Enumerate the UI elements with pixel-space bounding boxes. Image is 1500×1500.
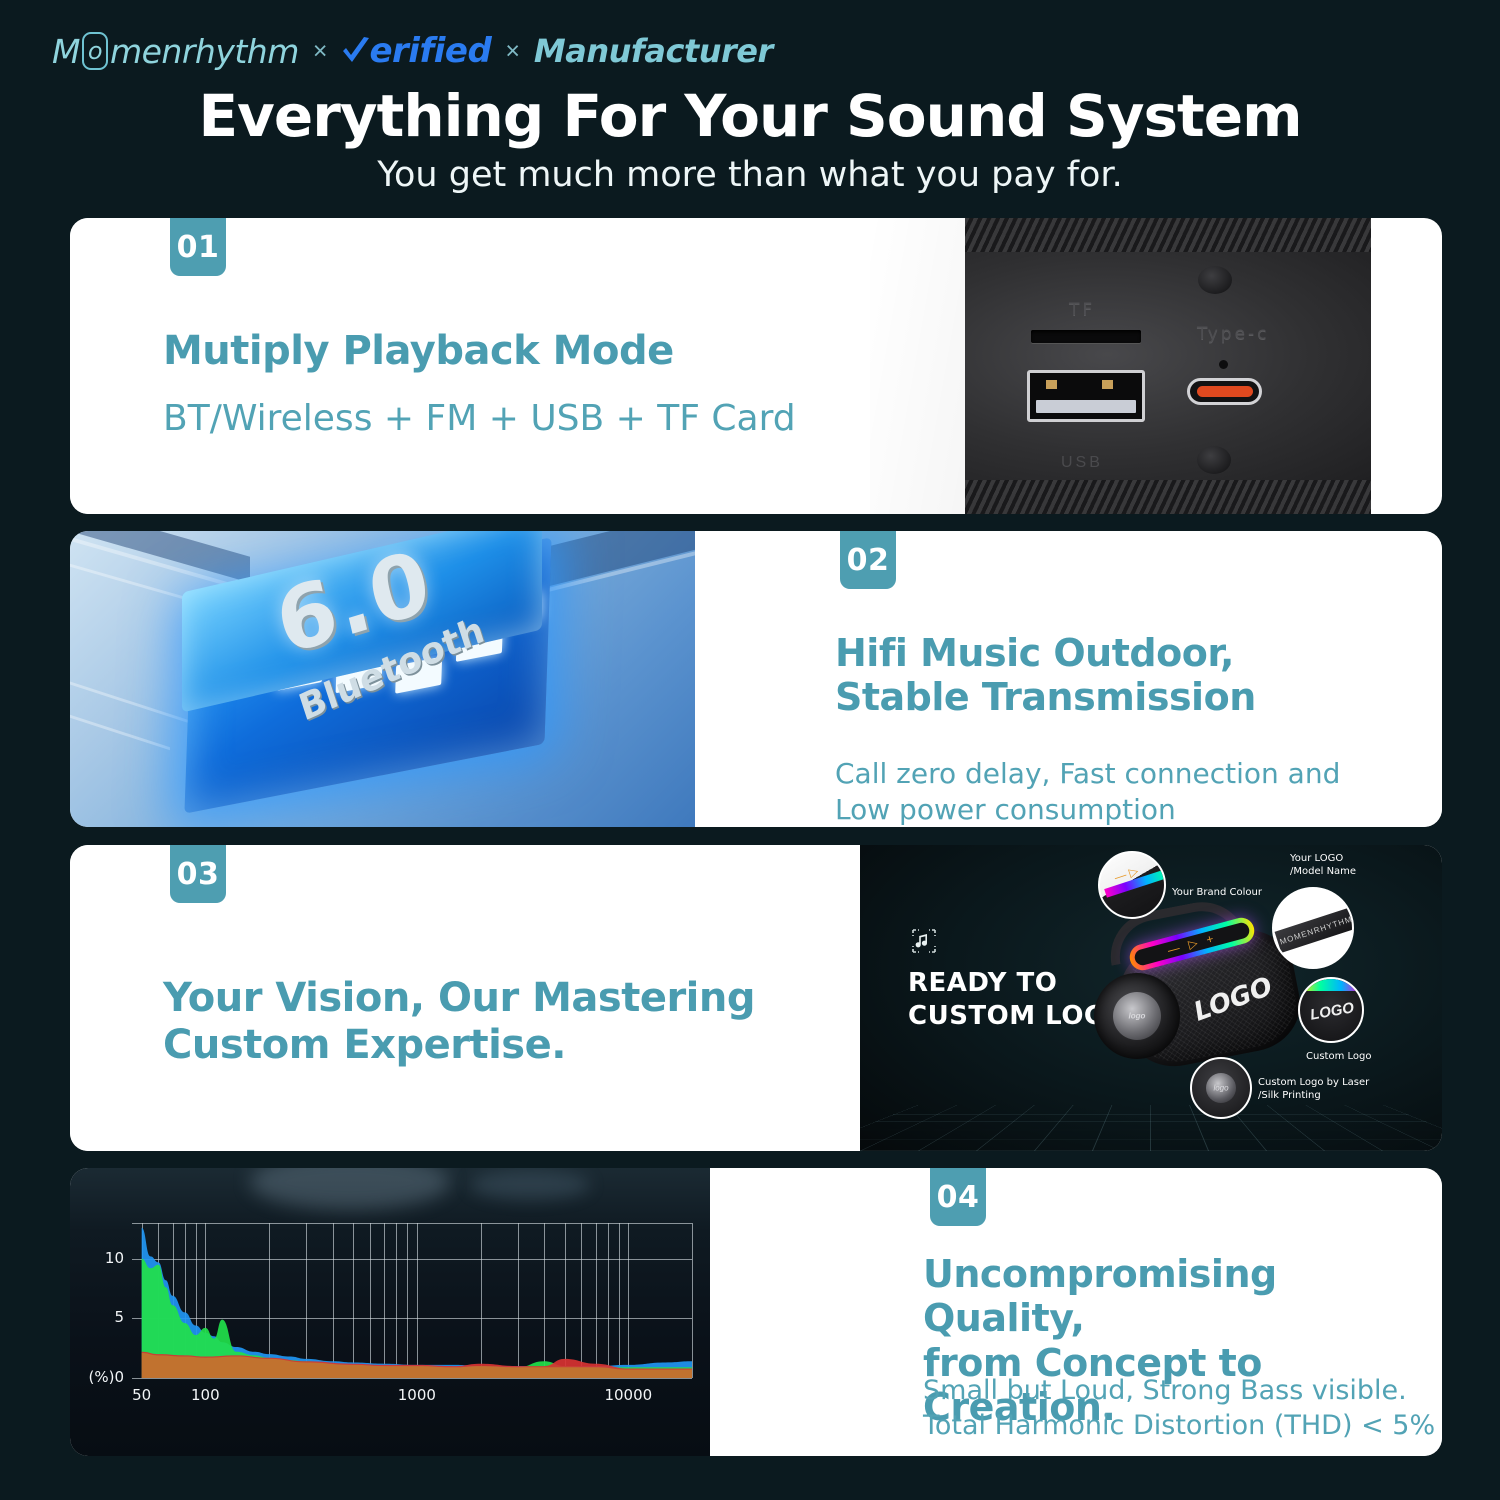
card-03-image-pane: READY TO CUSTOM LOGO? LOGO — ▷ + logo: [860, 845, 1442, 1151]
callout-custom-logo: LOGO: [1298, 977, 1364, 1043]
feature-card-02: 6.0 Bluetooth 02 Hifi Music Outdoor, Sta…: [70, 531, 1442, 827]
music-note-icon: [910, 927, 938, 955]
card-04-number-badge: 04: [930, 1168, 986, 1226]
thd-y-tick-5: 5: [98, 1308, 124, 1326]
custom-logo-image: READY TO CUSTOM LOGO? LOGO — ▷ + logo: [860, 845, 1442, 1151]
brand-verified: erified: [341, 31, 491, 71]
card-01-number-badge: 01: [170, 218, 226, 276]
thd-y-tick-10: 10: [98, 1249, 124, 1267]
brand-verified-label: erified: [369, 31, 491, 71]
thd-y-tick-0: (%)0: [78, 1368, 124, 1386]
screw-bottom-icon: [1197, 446, 1231, 474]
callout-laser-logo: logo: [1190, 1057, 1252, 1119]
card-04-subtitle-line2: Total Harmonic Distortion (THD) < 5%: [923, 1408, 1435, 1443]
brand-momen-prefix: M: [52, 32, 80, 71]
callout-brand-colour: — ▷: [1098, 851, 1166, 919]
page-subtitle: You get much more than what you pay for.: [0, 155, 1500, 195]
page-title: Everything For Your Sound System: [0, 82, 1500, 150]
brand-separator-2: ×: [505, 37, 520, 66]
screw-top-icon: [1198, 266, 1232, 294]
callout-label-brand-colour: Your Brand Colour: [1172, 887, 1262, 900]
card-03-title: Your Vision, Our Mastering Custom Expert…: [163, 975, 755, 1069]
callout-label-custom-logo: Custom Logo: [1306, 1051, 1371, 1064]
speaker-ports-photo: TF Type-c US: [965, 218, 1371, 514]
usb-port: [1027, 370, 1145, 422]
card-02-title: Hifi Music Outdoor, Stable Transmission: [835, 631, 1256, 720]
brand-momenrhythm: M o menrhythm: [52, 32, 299, 71]
card-02-subtitle-line1: Call zero delay, Fast connection and: [835, 756, 1340, 792]
card-02-image-pane: 6.0 Bluetooth: [70, 531, 770, 827]
thd-x-tick-50: 50: [112, 1386, 172, 1404]
card-01-subtitle: BT/Wireless + FM + USB + TF Card: [163, 396, 796, 443]
card-01-image-pane: TF Type-c US: [965, 218, 1442, 514]
callout-your-logo: MOMENRHYTHM: [1272, 887, 1354, 969]
card-04-title-line1: Uncompromising Quality,: [923, 1252, 1442, 1341]
feature-card-03: 03 Your Vision, Our Mastering Custom Exp…: [70, 845, 1442, 1151]
thd-chart: (%)0510 50100100010000: [70, 1168, 710, 1456]
thd-x-tick-10000: 10000: [598, 1386, 658, 1404]
thd-plot-area: [132, 1223, 692, 1378]
card-03-number-badge: 03: [170, 845, 226, 903]
callout-label-laser-logo: Custom Logo by Laser /Silk Printing: [1258, 1077, 1369, 1102]
speaker-driver-left: logo: [1094, 973, 1180, 1059]
port-label-usb: USB: [1061, 454, 1103, 472]
thd-series-svg: [132, 1223, 692, 1378]
bluetooth-chip-image: 6.0 Bluetooth: [70, 531, 695, 827]
card-02-subtitle: Call zero delay, Fast connection and Low…: [835, 756, 1340, 827]
infographic-page: M o menrhythm × erified × Manufacturer E…: [0, 0, 1500, 1500]
type-c-port: [1187, 378, 1262, 405]
card-04-subtitle: Small but Loud, Strong Bass visible. Tot…: [923, 1373, 1435, 1443]
check-icon: [341, 34, 371, 68]
brand-manufacturer: Manufacturer: [534, 32, 773, 70]
card-04-subtitle-line1: Small but Loud, Strong Bass visible.: [923, 1373, 1435, 1408]
feature-card-04: (%)0510 50100100010000 04 Uncompromising…: [70, 1168, 1442, 1456]
feature-card-01: 01 Mutiply Playback Mode BT/Wireless + F…: [70, 218, 1442, 514]
thd-x-tick-1000: 1000: [387, 1386, 447, 1404]
thd-x-tick-100: 100: [175, 1386, 235, 1404]
brand-bar: M o menrhythm × erified × Manufacturer: [52, 28, 773, 74]
card-02-number-badge: 02: [840, 531, 896, 589]
card-03-title-line1: Your Vision, Our Mastering: [163, 975, 755, 1022]
brand-separator-1: ×: [313, 37, 328, 66]
card-02-title-line1: Hifi Music Outdoor,: [835, 631, 1256, 675]
tf-card-slot: [1031, 330, 1141, 343]
port-label-typec: Type-c: [1197, 324, 1270, 344]
card-01-title: Mutiply Playback Mode: [163, 328, 674, 375]
card-02-title-line2: Stable Transmission: [835, 675, 1256, 719]
brand-momen-suffix: menrhythm: [110, 32, 299, 71]
card-02-subtitle-line2: Low power consumption: [835, 792, 1340, 827]
card-03-title-line2: Custom Expertise.: [163, 1022, 755, 1069]
port-label-tf: TF: [1069, 300, 1095, 320]
card-04-image-pane: (%)0510 50100100010000: [70, 1168, 770, 1456]
brand-boxed-o-icon: o: [82, 32, 108, 70]
callout-label-your-logo: Your LOGO /Model Name: [1290, 853, 1356, 878]
